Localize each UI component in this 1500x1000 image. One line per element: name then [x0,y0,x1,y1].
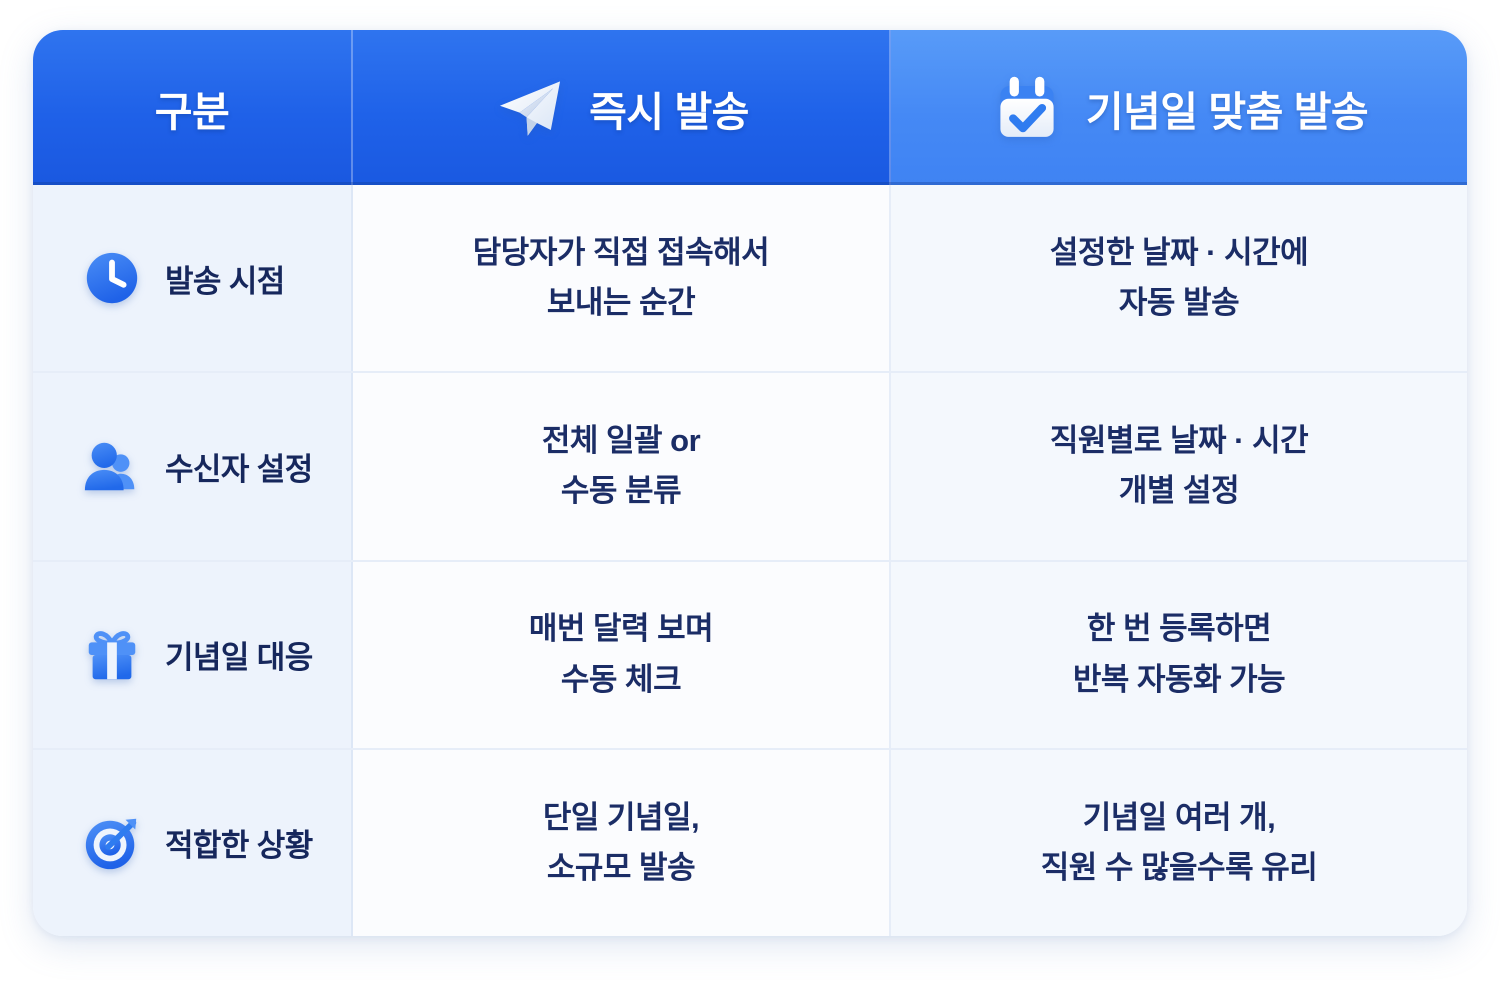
cell-scheduled-anniversary-handling: 한 번 등록하면 반복 자동화 가능 [891,562,1467,748]
cell-text-immediate: 담당자가 직접 접속해서 보내는 순간 [447,228,795,328]
cell-scheduled-recipient-setting: 직원별로 날짜 · 시간 개별 설정 [891,373,1467,559]
cell-text-scheduled: 설정한 날짜 · 시간에 자동 발송 [1024,228,1334,328]
cell-line: 단일 기념일, [543,793,699,843]
cell-line: 설정한 날짜 · 시간에 [1050,228,1308,278]
clock-icon [81,247,143,309]
header-cell-scheduled-send: 기념일 맞춤 발송 [891,30,1467,185]
table-body: 발송 시점 담당자가 직접 접속해서 보내는 순간 설정한 날짜 · 시간에 자… [33,185,1467,936]
table-row: 수신자 설정 전체 일괄 or 수동 분류 직원별로 날짜 · 시간 개별 설정 [33,373,1467,561]
cell-line: 매번 달력 보며 [529,604,713,654]
row-label-recipient-setting: 수신자 설정 [165,444,313,489]
gift-icon [81,624,143,686]
cell-text-immediate: 매번 달력 보며 수동 체크 [503,604,739,704]
row-label-suitable-situation: 적합한 상황 [165,820,313,865]
cell-text-scheduled: 한 번 등록하면 반복 자동화 가능 [1047,604,1311,704]
header-label-category: 구분 [155,78,229,138]
cell-text-immediate: 전체 일괄 or 수동 분류 [516,416,726,516]
cell-immediate-send-timing: 담당자가 직접 접속해서 보내는 순간 [353,185,891,371]
cell-line: 직원별로 날짜 · 시간 [1050,416,1308,466]
people-icon [81,435,143,497]
row-label-cell-send-timing: 발송 시점 [33,185,353,371]
cell-line: 자동 발송 [1050,278,1308,328]
cell-scheduled-suitable-situation: 기념일 여러 개, 직원 수 많을수록 유리 [891,750,1467,936]
cell-line: 소규모 발송 [543,843,699,893]
row-label-anniversary-handling: 기념일 대응 [165,632,313,677]
paper-plane-icon [493,71,567,145]
cell-line: 담당자가 직접 접속해서 [473,228,769,278]
row-label-send-timing: 발송 시점 [165,256,285,301]
cell-text-scheduled: 직원별로 날짜 · 시간 개별 설정 [1024,416,1334,516]
cell-line: 전체 일괄 or [542,416,700,466]
target-icon [81,812,143,874]
comparison-table-card: 구분 [33,30,1467,936]
cell-line: 수동 분류 [542,466,700,516]
cell-line: 보내는 순간 [473,278,769,328]
table-row: 발송 시점 담당자가 직접 접속해서 보내는 순간 설정한 날짜 · 시간에 자… [33,185,1467,373]
calendar-check-icon [990,71,1064,145]
cell-text-immediate: 단일 기념일, 소규모 발송 [517,793,725,893]
screenshot-root: 구분 [0,0,1500,1000]
cell-immediate-anniversary-handling: 매번 달력 보며 수동 체크 [353,562,891,748]
cell-line: 수동 체크 [529,655,713,705]
cell-text-scheduled: 기념일 여러 개, 직원 수 많을수록 유리 [1015,793,1344,893]
cell-line: 기념일 여러 개, [1041,793,1318,843]
table-row: 기념일 대응 매번 달력 보며 수동 체크 한 번 등록하면 반복 자동화 가능 [33,562,1467,750]
cell-immediate-suitable-situation: 단일 기념일, 소규모 발송 [353,750,891,936]
cell-line: 한 번 등록하면 [1073,604,1285,654]
cell-line: 직원 수 많을수록 유리 [1041,843,1318,893]
row-label-cell-suitable-situation: 적합한 상황 [33,750,353,936]
header-label-immediate-send: 즉시 발송 [589,78,749,138]
cell-immediate-recipient-setting: 전체 일괄 or 수동 분류 [353,373,891,559]
cell-scheduled-send-timing: 설정한 날짜 · 시간에 자동 발송 [891,185,1467,371]
row-label-cell-recipient-setting: 수신자 설정 [33,373,353,559]
cell-line: 반복 자동화 가능 [1073,655,1285,705]
table-row: 적합한 상황 단일 기념일, 소규모 발송 기념일 여러 개, 직원 수 많을수… [33,750,1467,936]
header-cell-immediate-send: 즉시 발송 [353,30,891,185]
header-label-scheduled-send: 기념일 맞춤 발송 [1086,78,1368,138]
row-label-cell-anniversary-handling: 기념일 대응 [33,562,353,748]
header-cell-category: 구분 [33,30,353,185]
cell-line: 개별 설정 [1050,466,1308,516]
table-header-row: 구분 [33,30,1467,185]
